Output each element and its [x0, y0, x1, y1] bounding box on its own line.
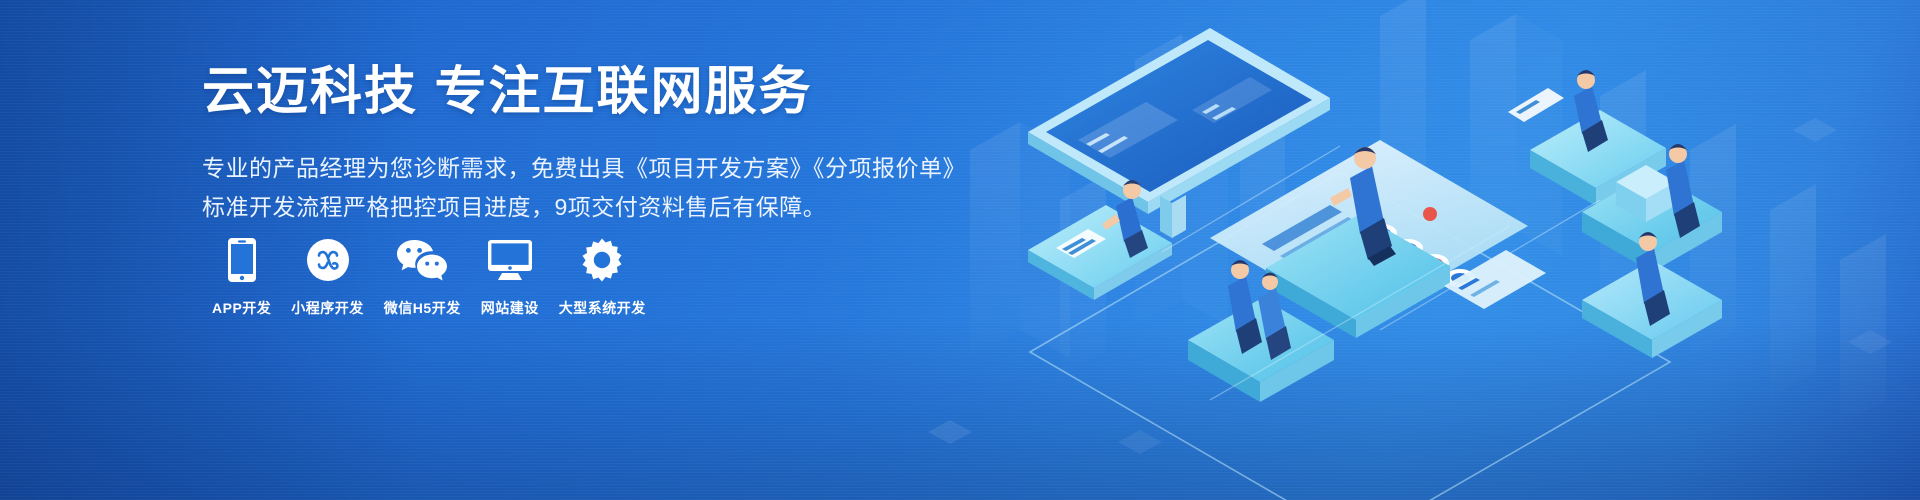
service-list: APP开发 小程序开发 [202, 232, 656, 318]
service-item-mini-program[interactable]: 小程序开发 [281, 232, 374, 318]
service-label-large-system: 大型系统开发 [559, 298, 646, 318]
mini-program-icon [306, 232, 350, 288]
gear-icon [579, 232, 625, 288]
hero-banner: 云迈科技 专注互联网服务 专业的产品经理为您诊断需求，免费出具《项目开发方案》《… [0, 0, 1920, 500]
hero-subtitle: 专业的产品经理为您诊断需求，免费出具《项目开发方案》《分项报价单》 标准开发流程… [202, 149, 966, 227]
service-item-app[interactable]: APP开发 [202, 232, 281, 318]
service-label-app: APP开发 [212, 298, 271, 318]
hero-subtitle-line-2: 标准开发流程严格把控项目进度，9项交付资料售后有保障。 [202, 188, 966, 227]
hero-subtitle-line-1: 专业的产品经理为您诊断需求，免费出具《项目开发方案》《分项报价单》 [202, 149, 966, 188]
bottom-vignette [0, 320, 1920, 500]
service-label-website: 网站建设 [481, 298, 539, 318]
mobile-phone-icon [227, 232, 257, 288]
service-item-wechat-h5[interactable]: 微信H5开发 [374, 232, 471, 318]
service-item-website[interactable]: 网站建设 [471, 232, 549, 318]
monitor-icon [486, 232, 534, 288]
page-title: 云迈科技 专注互联网服务 [202, 62, 966, 123]
service-item-large-system[interactable]: 大型系统开发 [549, 232, 656, 318]
hero-copy: 云迈科技 专注互联网服务 专业的产品经理为您诊断需求，免费出具《项目开发方案》《… [202, 62, 966, 228]
service-label-mini-program: 小程序开发 [291, 298, 364, 318]
wechat-icon [395, 232, 449, 288]
service-label-wechat-h5: 微信H5开发 [384, 298, 461, 318]
